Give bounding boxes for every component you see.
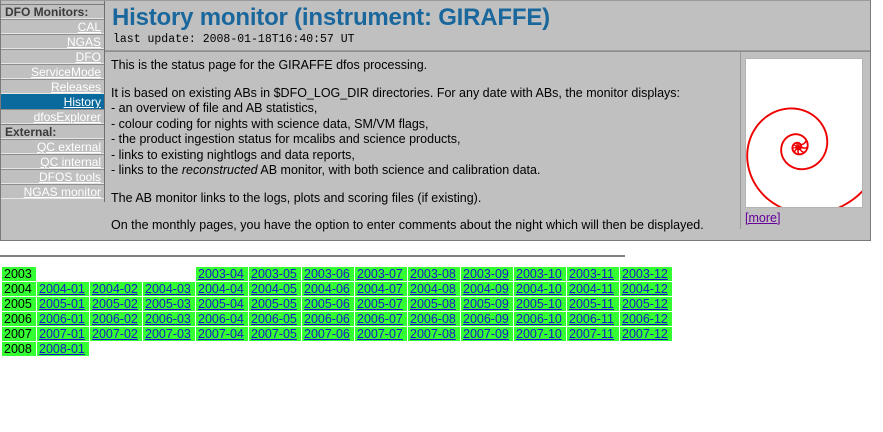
bullet-colour-coding: - colour coding for nights with science … [111, 117, 732, 133]
month-link[interactable]: 2006-06 [304, 312, 350, 326]
month-cell[interactable]: 2006-11 [567, 312, 619, 326]
table-row: 20042004-012004-022004-032004-042004-052… [2, 282, 672, 296]
month-link[interactable]: 2005-01 [39, 297, 85, 311]
year-cell: 2006 [2, 312, 36, 326]
spiral-icon [746, 59, 862, 207]
month-cell[interactable]: 2005-01 [37, 297, 89, 311]
month-cell[interactable]: 2006-01 [37, 312, 89, 326]
month-cell[interactable]: 2006-05 [249, 312, 301, 326]
month-cell[interactable]: 2007-04 [196, 327, 248, 341]
month-cell[interactable]: 2007-07 [355, 327, 407, 341]
month-link[interactable]: 2005-05 [251, 297, 297, 311]
sidebar-nav: DFO Monitors: CALNGASDFOServiceModeRelea… [1, 1, 105, 202]
year-cell: 2005 [2, 297, 36, 311]
sidebar-list-dfo-monitors: CALNGASDFOServiceModeReleasesHistorydfos… [1, 19, 104, 124]
month-cell[interactable]: 2004-10 [514, 282, 566, 296]
month-link[interactable]: 2006-02 [92, 312, 138, 326]
bullet-reconstructed-post: AB monitor, with both science and calibr… [258, 163, 541, 177]
month-link[interactable]: 2004-02 [92, 282, 138, 296]
month-cell-empty [249, 342, 301, 356]
month-cell[interactable]: 2006-12 [620, 312, 672, 326]
bullet-nightlogs: - links to existing nightlogs and data r… [111, 148, 732, 164]
month-link[interactable]: 2006-05 [251, 312, 297, 326]
month-cell-empty [567, 342, 619, 356]
month-cell[interactable]: 2003-12 [620, 267, 672, 281]
sidebar-item-dfosexplorer[interactable]: dfosExplorer [1, 109, 104, 124]
month-cell[interactable]: 2004-09 [461, 282, 513, 296]
month-link[interactable]: 2005-04 [198, 297, 244, 311]
horizontal-rule [0, 255, 625, 257]
description-text: This is the status page for the GIRAFFE … [105, 52, 740, 240]
month-cell[interactable]: 2006-03 [143, 312, 195, 326]
month-cell[interactable]: 2004-02 [90, 282, 142, 296]
month-cell[interactable]: 2004-01 [37, 282, 89, 296]
sidebar-item-label[interactable]: CAL [78, 20, 101, 34]
month-link[interactable]: 2004-04 [198, 282, 244, 296]
month-link[interactable]: 2007-11 [569, 327, 614, 341]
month-link[interactable]: 2007-02 [92, 327, 138, 341]
month-cell[interactable]: 2005-02 [90, 297, 142, 311]
month-link[interactable]: 2005-12 [622, 297, 668, 311]
month-link[interactable]: 2003-12 [622, 267, 668, 281]
month-cell[interactable]: 2003-06 [302, 267, 354, 281]
sidebar-item-label[interactable]: dfosExplorer [34, 110, 101, 124]
sidebar-section-external: External: [1, 124, 104, 139]
month-cell-empty [196, 342, 248, 356]
month-cell-empty [37, 267, 89, 281]
table-row: 20082008-01 [2, 342, 672, 356]
month-cell-empty [461, 342, 513, 356]
sidebar-item-label[interactable]: DFO [76, 50, 101, 64]
month-cell[interactable]: 2007-05 [249, 327, 301, 341]
sidebar-item-qc-external[interactable]: QC external [1, 139, 104, 154]
sidebar-item-label[interactable]: NGAS monitor [24, 185, 101, 199]
month-link[interactable]: 2006-11 [569, 312, 614, 326]
month-link[interactable]: 2005-11 [569, 297, 614, 311]
month-cell-empty [355, 342, 407, 356]
month-cell[interactable]: 2003-04 [196, 267, 248, 281]
sidebar-item-label[interactable]: NGAS [67, 35, 101, 49]
month-link[interactable]: 2005-07 [357, 297, 403, 311]
page-root: DFO Monitors: CALNGASDFOServiceModeRelea… [0, 0, 883, 432]
month-cell[interactable]: 2003-09 [461, 267, 513, 281]
month-link[interactable]: 2005-08 [410, 297, 456, 311]
year-cell: 2004 [2, 282, 36, 296]
month-link[interactable]: 2004-06 [304, 282, 350, 296]
separator-wrapper [0, 255, 883, 257]
month-cell[interactable]: 2007-02 [90, 327, 142, 341]
month-link[interactable]: 2007-08 [410, 327, 456, 341]
main-panel: DFO Monitors: CALNGASDFOServiceModeRelea… [0, 0, 871, 241]
month-cell[interactable]: 2005-08 [408, 297, 460, 311]
month-link[interactable]: 2006-10 [516, 312, 562, 326]
month-cell[interactable]: 2006-07 [355, 312, 407, 326]
month-link[interactable]: 2004-05 [251, 282, 297, 296]
month-cell[interactable]: 2004-04 [196, 282, 248, 296]
month-link[interactable]: 2003-11 [569, 267, 614, 281]
month-cell[interactable]: 2004-08 [408, 282, 460, 296]
year-cell: 2008 [2, 342, 36, 356]
month-cell[interactable]: 2007-01 [37, 327, 89, 341]
sidebar-item-qc-internal[interactable]: QC internal [1, 154, 104, 169]
month-cell[interactable]: 2007-11 [567, 327, 619, 341]
paragraph-intro: This is the status page for the GIRAFFE … [111, 58, 732, 74]
sidebar-item-label[interactable]: ServiceMode [31, 65, 101, 79]
month-cell[interactable]: 2003-05 [249, 267, 301, 281]
month-link[interactable]: 2003-04 [198, 267, 244, 281]
month-cell[interactable]: 2004-11 [567, 282, 619, 296]
month-link[interactable]: 2004-10 [516, 282, 562, 296]
month-cell[interactable]: 2004-06 [302, 282, 354, 296]
month-link[interactable]: 2005-03 [145, 297, 191, 311]
body-row: This is the status page for the GIRAFFE … [105, 51, 870, 240]
month-link[interactable]: 2003-05 [251, 267, 297, 281]
month-link[interactable]: 2003-09 [463, 267, 509, 281]
table-row: 20062006-012006-022006-032006-042006-052… [2, 312, 672, 326]
month-cell[interactable]: 2006-09 [461, 312, 513, 326]
month-cell[interactable]: 2007-12 [620, 327, 672, 341]
sidebar-item-cal[interactable]: CAL [1, 19, 104, 34]
month-cell[interactable]: 2005-12 [620, 297, 672, 311]
month-cell[interactable]: 2004-05 [249, 282, 301, 296]
bullet-reconstructed: - links to the reconstructed AB monitor,… [111, 163, 732, 179]
month-link[interactable]: 2003-06 [304, 267, 350, 281]
sidebar-item-releases[interactable]: Releases [1, 79, 104, 94]
month-cell[interactable]: 2007-06 [302, 327, 354, 341]
sidebar-item-history[interactable]: History [1, 94, 104, 109]
month-link[interactable]: 2006-01 [39, 312, 85, 326]
paragraph-details: It is based on existing ABs in $DFO_LOG_… [111, 86, 732, 179]
month-link[interactable]: 2006-04 [198, 312, 244, 326]
month-cell[interactable]: 2005-11 [567, 297, 619, 311]
month-cell[interactable]: 2008-01 [37, 342, 89, 356]
month-cell[interactable]: 2007-03 [143, 327, 195, 341]
month-cell[interactable]: 2004-07 [355, 282, 407, 296]
bullet-reconstructed-pre: - links to the [111, 163, 182, 177]
last-update-text: last update: 2008-01-18T16:40:57 UT [111, 32, 870, 50]
month-link[interactable]: 2005-02 [92, 297, 138, 311]
month-link[interactable]: 2003-07 [357, 267, 403, 281]
month-cell[interactable]: 2005-04 [196, 297, 248, 311]
title-row: History monitor (instrument: GIRAFFE) la… [105, 1, 870, 51]
sidebar-item-label[interactable]: History [64, 95, 101, 109]
sidebar-item-servicemode[interactable]: ServiceMode [1, 64, 104, 79]
year-cell: 2003 [2, 267, 36, 281]
month-cell[interactable]: 2005-05 [249, 297, 301, 311]
month-link[interactable]: 2008-01 [39, 342, 85, 356]
month-link[interactable]: 2006-07 [357, 312, 403, 326]
month-cell[interactable]: 2007-09 [461, 327, 513, 341]
month-link[interactable]: 2007-05 [251, 327, 297, 341]
month-link[interactable]: 2005-09 [463, 297, 509, 311]
sidebar-section-dfo-monitors: DFO Monitors: [1, 4, 104, 19]
month-link[interactable]: 2004-03 [145, 282, 191, 296]
month-link[interactable]: 2003-10 [516, 267, 562, 281]
month-link[interactable]: 2007-12 [622, 327, 668, 341]
month-cell[interactable]: 2006-02 [90, 312, 142, 326]
paragraph-ab-monitor: The AB monitor links to the logs, plots … [111, 191, 732, 207]
month-cell-empty [143, 267, 195, 281]
month-link[interactable]: 2004-01 [39, 282, 85, 296]
month-cell-empty [90, 342, 142, 356]
sidebar-item-label[interactable]: DFOS tools [39, 170, 101, 184]
month-cell[interactable]: 2006-04 [196, 312, 248, 326]
month-link[interactable]: 2007-03 [145, 327, 191, 341]
month-link[interactable]: 2006-03 [145, 312, 191, 326]
month-cell[interactable]: 2004-03 [143, 282, 195, 296]
month-cell-empty [408, 342, 460, 356]
month-cell[interactable]: 2003-11 [567, 267, 619, 281]
page-title: History monitor (instrument: GIRAFFE) [111, 3, 870, 32]
month-cell-empty [90, 267, 142, 281]
month-cell-empty [302, 342, 354, 356]
month-cell[interactable]: 2004-12 [620, 282, 672, 296]
bullet-reconstructed-emphasis: reconstructed [182, 163, 258, 177]
sidebar-item-dfo[interactable]: DFO [1, 49, 104, 64]
month-cell[interactable]: 2003-10 [514, 267, 566, 281]
month-link[interactable]: 2007-06 [304, 327, 350, 341]
bullet-ingestion-status: - the product ingestion status for mcali… [111, 132, 732, 148]
sidebar-item-label[interactable]: Releases [51, 80, 101, 94]
month-cell[interactable]: 2006-08 [408, 312, 460, 326]
month-link[interactable]: 2005-06 [304, 297, 350, 311]
month-link[interactable]: 2004-09 [463, 282, 509, 296]
month-cell[interactable]: 2003-08 [408, 267, 460, 281]
month-cell[interactable]: 2006-10 [514, 312, 566, 326]
sidebar-item-ngas[interactable]: NGAS [1, 34, 104, 49]
month-cell-empty [514, 342, 566, 356]
year-cell: 2007 [2, 327, 36, 341]
month-link[interactable]: 2004-11 [569, 282, 614, 296]
month-cell[interactable]: 2005-07 [355, 297, 407, 311]
more-link-wrapper: [more] [745, 211, 864, 225]
table-row: 20072007-012007-022007-032007-042007-052… [2, 327, 672, 341]
more-link[interactable]: [more] [745, 211, 780, 225]
year-month-table: 2003 2003-042003-052003-062003-072003-08… [1, 266, 673, 357]
month-link[interactable]: 2007-10 [516, 327, 562, 341]
month-cell[interactable]: 2006-06 [302, 312, 354, 326]
nautilus-spiral-image [745, 58, 863, 208]
month-link[interactable]: 2004-12 [622, 282, 668, 296]
month-link[interactable]: 2003-08 [410, 267, 456, 281]
month-link[interactable]: 2006-12 [622, 312, 668, 326]
month-link[interactable]: 2007-01 [39, 327, 85, 341]
month-cell[interactable]: 2005-06 [302, 297, 354, 311]
month-link[interactable]: 2007-09 [463, 327, 509, 341]
month-link[interactable]: 2006-09 [463, 312, 509, 326]
sidebar-item-label[interactable]: QC internal [40, 155, 101, 169]
month-link[interactable]: 2004-08 [410, 282, 456, 296]
month-link[interactable]: 2006-08 [410, 312, 456, 326]
month-cell[interactable]: 2005-09 [461, 297, 513, 311]
month-cell-empty [143, 342, 195, 356]
content-column: History monitor (instrument: GIRAFFE) la… [105, 1, 870, 240]
month-cell[interactable]: 2005-10 [514, 297, 566, 311]
figure-cell: [more] [740, 52, 870, 229]
month-link[interactable]: 2005-10 [516, 297, 562, 311]
table-row: 20052005-012005-022005-032005-042005-052… [2, 297, 672, 311]
month-link[interactable]: 2007-07 [357, 327, 403, 341]
sidebar-item-ngas-monitor[interactable]: NGAS monitor [1, 184, 104, 199]
sidebar-list-external: QC externalQC internalDFOS toolsNGAS mon… [1, 139, 104, 199]
month-cell[interactable]: 2007-10 [514, 327, 566, 341]
month-link[interactable]: 2004-07 [357, 282, 403, 296]
table-row: 2003 2003-042003-052003-062003-072003-08… [2, 267, 672, 281]
month-cell[interactable]: 2007-08 [408, 327, 460, 341]
month-cell-empty [620, 342, 672, 356]
bullet-overview: - an overview of file and AB statistics, [111, 101, 732, 117]
sidebar-item-label[interactable]: QC external [37, 140, 101, 154]
month-cell[interactable]: 2005-03 [143, 297, 195, 311]
sidebar-item-dfos-tools[interactable]: DFOS tools [1, 169, 104, 184]
month-link[interactable]: 2007-04 [198, 327, 244, 341]
month-cell[interactable]: 2003-07 [355, 267, 407, 281]
line-based-on: It is based on existing ABs in $DFO_LOG_… [111, 86, 732, 102]
paragraph-monthly-comments: On the monthly pages, you have the optio… [111, 218, 732, 234]
